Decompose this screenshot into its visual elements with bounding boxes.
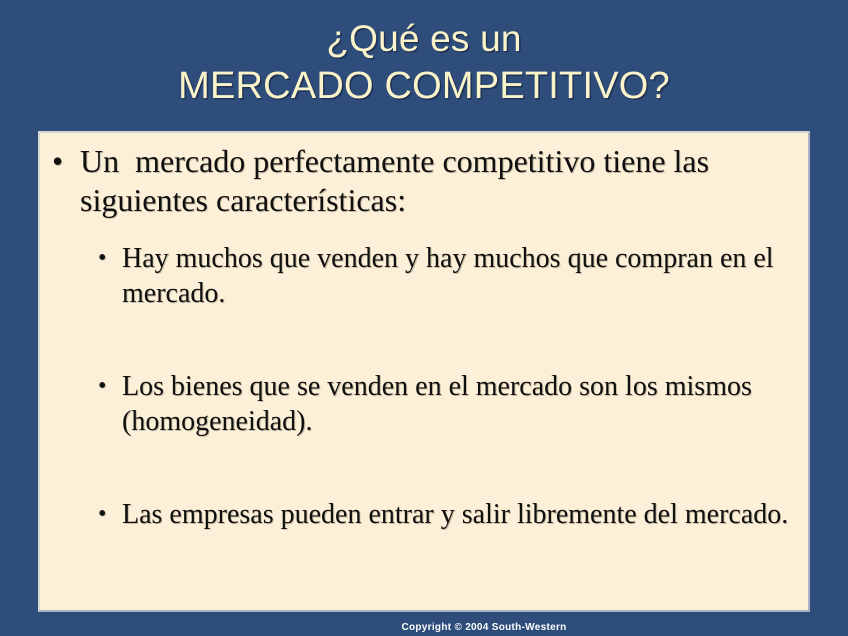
- content-panel: • Un mercado perfectamente competitivo t…: [38, 131, 810, 612]
- bullet-list: • Un mercado perfectamente competitivo t…: [40, 133, 808, 532]
- bullet-item-level1: • Un mercado perfectamente competitivo t…: [40, 133, 808, 220]
- page-title-line-1: ¿Qué es un: [0, 16, 848, 63]
- bullet-item-level2-homogeneous-goods: • Los bienes que se venden en el mercado…: [40, 369, 808, 439]
- bullet-text: Las empresas pueden entrar y salir libre…: [122, 497, 790, 532]
- sublist-container: • Hay muchos que venden y hay muchos que…: [40, 241, 808, 532]
- sub-bullet-list: • Hay muchos que venden y hay muchos que…: [40, 241, 808, 532]
- slide-canvas: ¿Qué es un MERCADO COMPETITIVO? • Un mer…: [0, 0, 848, 636]
- bullet-text: Un mercado perfectamente competitivo tie…: [80, 142, 794, 220]
- copyright-notice: Copyright © 2004 South-Western: [281, 622, 566, 633]
- footer: Copyright © 2004 South-Western: [0, 622, 848, 633]
- bullet-marker-icon: •: [98, 369, 106, 404]
- page-title-line-2: MERCADO COMPETITIVO?: [0, 63, 848, 111]
- bullet-marker-icon: •: [98, 241, 106, 276]
- page-title: ¿Qué es un MERCADO COMPETITIVO?: [0, 16, 848, 110]
- bullet-marker-icon: •: [52, 142, 63, 181]
- bullet-item-level2-many-sellers-buyers: • Hay muchos que venden y hay muchos que…: [40, 241, 808, 311]
- bullet-marker-icon: •: [98, 497, 106, 532]
- bullet-item-level2-free-entry-exit: • Las empresas pueden entrar y salir lib…: [40, 497, 808, 532]
- bullet-text: Hay muchos que venden y hay muchos que c…: [122, 241, 790, 311]
- bullet-text: Los bienes que se venden en el mercado s…: [122, 369, 790, 439]
